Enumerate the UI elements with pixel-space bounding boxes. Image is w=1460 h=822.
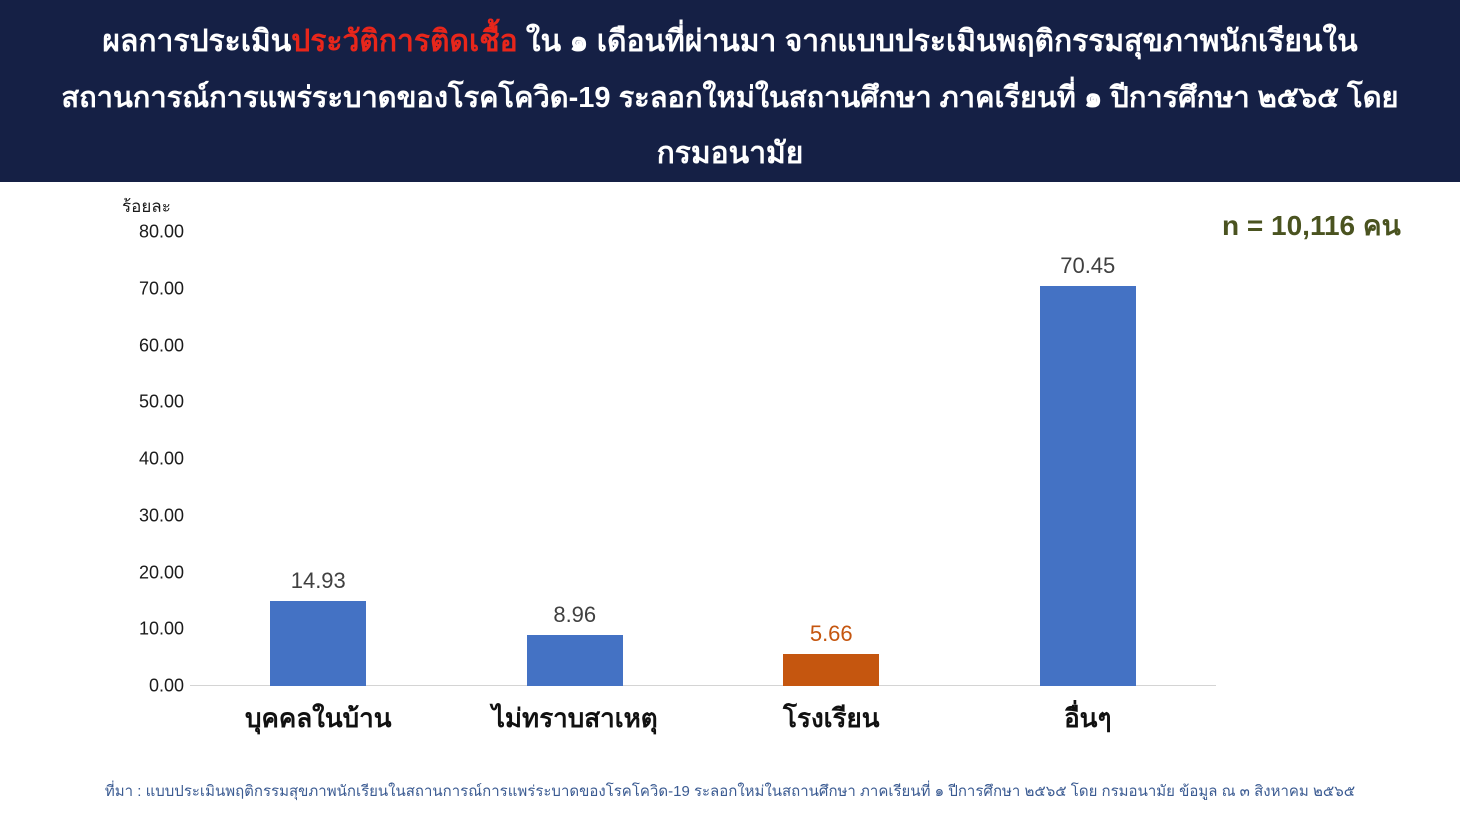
chart-slide: ผลการประเมินประวัติการติดเชื้อ ใน ๑ เดือ… <box>0 0 1460 822</box>
y-axis-unit-label: ร้อยละ <box>122 193 171 220</box>
bar-group: 8.96ไม่ทราบสาเหตุ <box>447 232 704 686</box>
y-tick-label: 80.00 <box>74 222 184 243</box>
title-line-3: กรมอนามัย <box>22 126 1438 182</box>
y-tick-label: 30.00 <box>74 505 184 526</box>
title-line-1: ผลการประเมินประวัติการติดเชื้อ ใน ๑ เดือ… <box>22 14 1438 70</box>
title-line-1-suffix: ใน ๑ เดือนที่ผ่านมา จากแบบประเมินพฤติกรร… <box>518 25 1358 58</box>
title-line-1-highlight: ประวัติการติดเชื้อ <box>291 25 517 58</box>
bar[interactable] <box>270 601 366 686</box>
x-axis-category-label: อื่นๆ <box>1064 698 1111 739</box>
title-line-2: สถานการณ์การแพร่ระบาดของโรคโควิด-19 ระลอ… <box>22 70 1438 126</box>
title-line-1-prefix: ผลการประเมิน <box>102 25 291 58</box>
bar-group: 5.66โรงเรียน <box>703 232 960 686</box>
y-tick-label: 50.00 <box>74 392 184 413</box>
bar-value-label: 5.66 <box>810 621 853 647</box>
source-note: ที่มา : แบบประเมินพฤติกรรมสุขภาพนักเรียน… <box>0 779 1460 803</box>
x-axis-category-label: ไม่ทราบสาเหตุ <box>492 698 658 739</box>
bar[interactable] <box>1040 286 1136 686</box>
y-tick-label: 60.00 <box>74 335 184 356</box>
y-tick-label: 20.00 <box>74 562 184 583</box>
bar-group: 70.45อื่นๆ <box>960 232 1217 686</box>
bar-series: 14.93บุคคลในบ้าน8.96ไม่ทราบสาเหตุ5.66โรง… <box>190 232 1216 686</box>
bar[interactable] <box>783 654 879 686</box>
bar-group: 14.93บุคคลในบ้าน <box>190 232 447 686</box>
bar-value-label: 70.45 <box>1060 253 1115 279</box>
sample-size-annotation: n = 10,116 คน <box>1222 204 1401 248</box>
bar-value-label: 14.93 <box>291 568 346 594</box>
bar-value-label: 8.96 <box>553 602 596 628</box>
plot-area: 80.0070.0060.0050.0040.0030.0020.0010.00… <box>190 232 1216 686</box>
y-tick-label: 70.00 <box>74 278 184 299</box>
y-tick-label: 40.00 <box>74 449 184 470</box>
slide-title-band: ผลการประเมินประวัติการติดเชื้อ ใน ๑ เดือ… <box>0 0 1460 182</box>
chart-canvas: ร้อยละ n = 10,116 คน 80.0070.0060.0050.0… <box>0 182 1460 822</box>
bar[interactable] <box>527 635 623 686</box>
x-axis-category-label: บุคคลในบ้าน <box>245 698 392 739</box>
x-axis-category-label: โรงเรียน <box>783 698 879 739</box>
y-tick-label: 10.00 <box>74 619 184 640</box>
y-tick-label: 0.00 <box>74 676 184 697</box>
